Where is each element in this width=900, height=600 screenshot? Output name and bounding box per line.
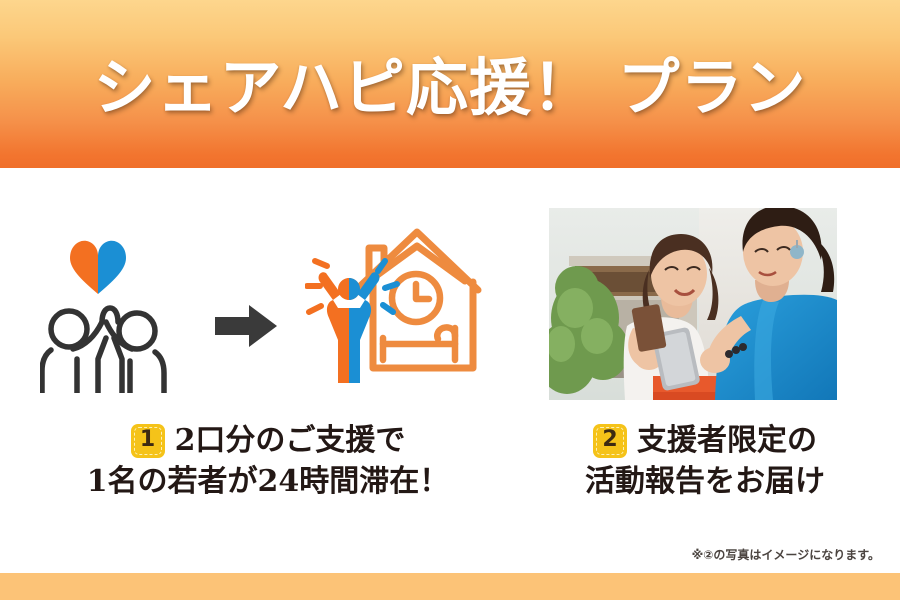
number-badge-1: 1: [131, 424, 165, 458]
caption-2-line-1-text: 支援者限定の: [637, 420, 817, 461]
number-badge-2: 2: [593, 424, 627, 458]
caption-2-line-1: 2 支援者限定の: [520, 420, 890, 461]
house-with-clock-and-bed-icon: [305, 218, 510, 393]
person-right-figure: [106, 313, 164, 393]
clock-icon: [392, 274, 440, 322]
two-women-looking-at-smartphone-photo: [549, 208, 837, 400]
joined-arms: [98, 308, 122, 393]
content-area: 1 2口分のご支援で 1名の若者が24時間滞在！ 2 支援者限定の 活動報告をお…: [0, 168, 900, 573]
person-left-figure: [42, 311, 102, 393]
right-arrow-icon: [215, 303, 277, 349]
header-banner: シェアハピ応援！ プラン: [0, 0, 900, 168]
footer-bar: [0, 573, 900, 600]
heart-icon: [70, 241, 126, 294]
page-title: シェアハピ応援！ プラン: [0, 0, 900, 168]
icon-group: [20, 188, 520, 393]
caption-2-line-2: 活動報告をお届け: [520, 461, 890, 502]
two-people-with-heart-icon: [40, 218, 190, 393]
caption-1-line-1-text: 2口分のご支援で: [175, 420, 406, 461]
caption-item-1: 1 2口分のご支援で 1名の若者が24時間滞在！: [38, 420, 498, 503]
caption-1-line-1: 1 2口分のご支援で: [38, 420, 498, 461]
bed-icon: [383, 327, 455, 360]
caption-1-line-2: 1名の若者が24時間滞在！: [38, 461, 498, 502]
caption-item-2: 2 支援者限定の 活動報告をお届け: [520, 420, 890, 503]
photo-disclaimer-note: ※②の写真はイメージになります。: [692, 546, 880, 563]
promo-card: シェアハピ応援！ プラン: [0, 0, 900, 600]
